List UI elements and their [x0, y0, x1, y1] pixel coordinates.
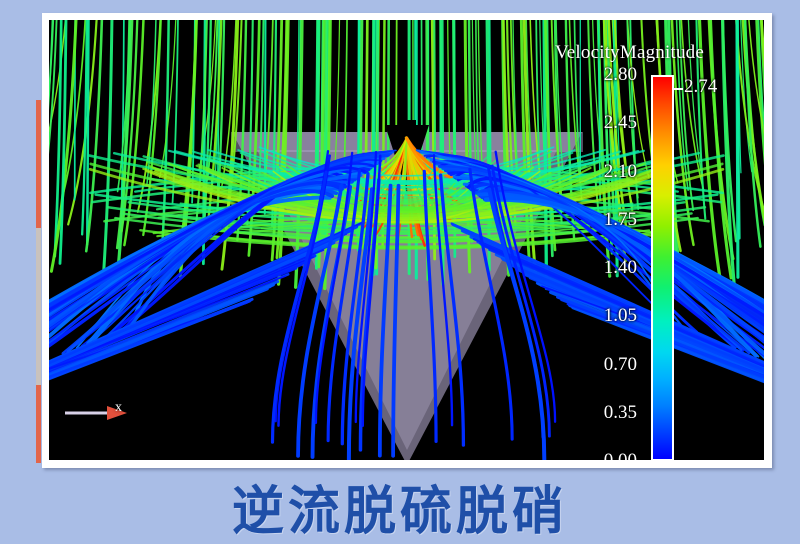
left-accent-bar-bottom [36, 385, 41, 463]
streamlines-recirculation-layer [49, 20, 764, 460]
left-accent-bar-middle [36, 228, 41, 385]
left-accent-bar-top [36, 100, 41, 228]
axis-label-x: x [115, 400, 122, 416]
slide-background: x VelocityMagnitude 2.74 0.00 2.802.452.… [0, 0, 800, 542]
figure-frame: x VelocityMagnitude 2.74 0.00 2.802.452.… [42, 13, 772, 468]
axis-triad: x [63, 400, 143, 426]
slide-caption: 逆流脱硫脱硝 [0, 470, 800, 542]
visualization-canvas[interactable]: x VelocityMagnitude 2.74 0.00 2.802.452.… [49, 20, 764, 460]
